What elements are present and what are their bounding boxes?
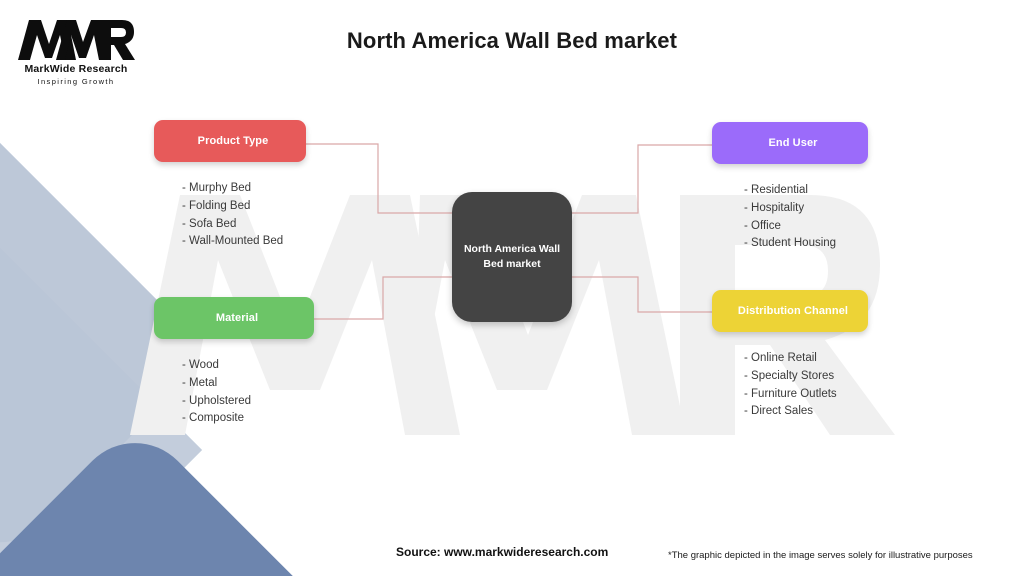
logo-tagline: Inspiring Growth (16, 77, 136, 86)
category-product-type: Product Type - Murphy Bed - Folding Bed … (154, 120, 306, 251)
logo-brand-name: MarkWide Research (16, 63, 136, 75)
list-item: - Office (744, 218, 868, 236)
list-item: - Composite (182, 410, 314, 428)
category-label-product-type: Product Type (192, 135, 269, 147)
category-header-distribution-channel[interactable]: Distribution Channel (712, 290, 868, 332)
center-node-label: North America Wall Bed market (452, 242, 572, 272)
category-label-distribution-channel: Distribution Channel (732, 305, 848, 317)
list-item: - Direct Sales (744, 403, 868, 421)
category-header-material[interactable]: Material (154, 297, 314, 339)
category-list-end-user: - Residential - Hospitality - Office - S… (712, 182, 868, 253)
center-node[interactable]: North America Wall Bed market (452, 192, 572, 322)
list-item: - Upholstered (182, 393, 314, 411)
list-item: - Sofa Bed (182, 216, 306, 234)
source-attribution: Source: www.markwideresearch.com (396, 545, 608, 559)
category-header-product-type[interactable]: Product Type (154, 120, 306, 162)
category-material: Material - Wood - Metal - Upholstered - … (154, 297, 314, 428)
list-item: - Student Housing (744, 235, 868, 253)
connector-material (314, 277, 452, 319)
infographic-canvas: MarkWide Research Inspiring Growth North… (0, 0, 1024, 576)
list-item: - Wood (182, 357, 314, 375)
category-list-distribution-channel: - Online Retail - Specialty Stores - Fur… (712, 350, 868, 421)
category-distribution-channel: Distribution Channel - Online Retail - S… (712, 290, 868, 421)
list-item: - Wall-Mounted Bed (182, 233, 306, 251)
category-list-product-type: - Murphy Bed - Folding Bed - Sofa Bed - … (154, 180, 306, 251)
category-end-user: End User - Residential - Hospitality - O… (712, 122, 868, 253)
list-item: - Furniture Outlets (744, 386, 868, 404)
connector-end-user (572, 145, 712, 213)
list-item: - Metal (182, 375, 314, 393)
list-item: - Murphy Bed (182, 180, 306, 198)
category-label-end-user: End User (762, 137, 817, 149)
list-item: - Folding Bed (182, 198, 306, 216)
category-list-material: - Wood - Metal - Upholstered - Composite (154, 357, 314, 428)
category-header-end-user[interactable]: End User (712, 122, 868, 164)
decorative-shape-dark (0, 418, 312, 576)
page-title: North America Wall Bed market (0, 28, 1024, 54)
list-item: - Hospitality (744, 200, 868, 218)
disclaimer-note: *The graphic depicted in the image serve… (668, 550, 973, 561)
list-item: - Residential (744, 182, 868, 200)
category-label-material: Material (210, 312, 258, 324)
list-item: - Specialty Stores (744, 368, 868, 386)
list-item: - Online Retail (744, 350, 868, 368)
connector-distribution-channel (572, 277, 712, 312)
connector-product-type (306, 144, 452, 213)
